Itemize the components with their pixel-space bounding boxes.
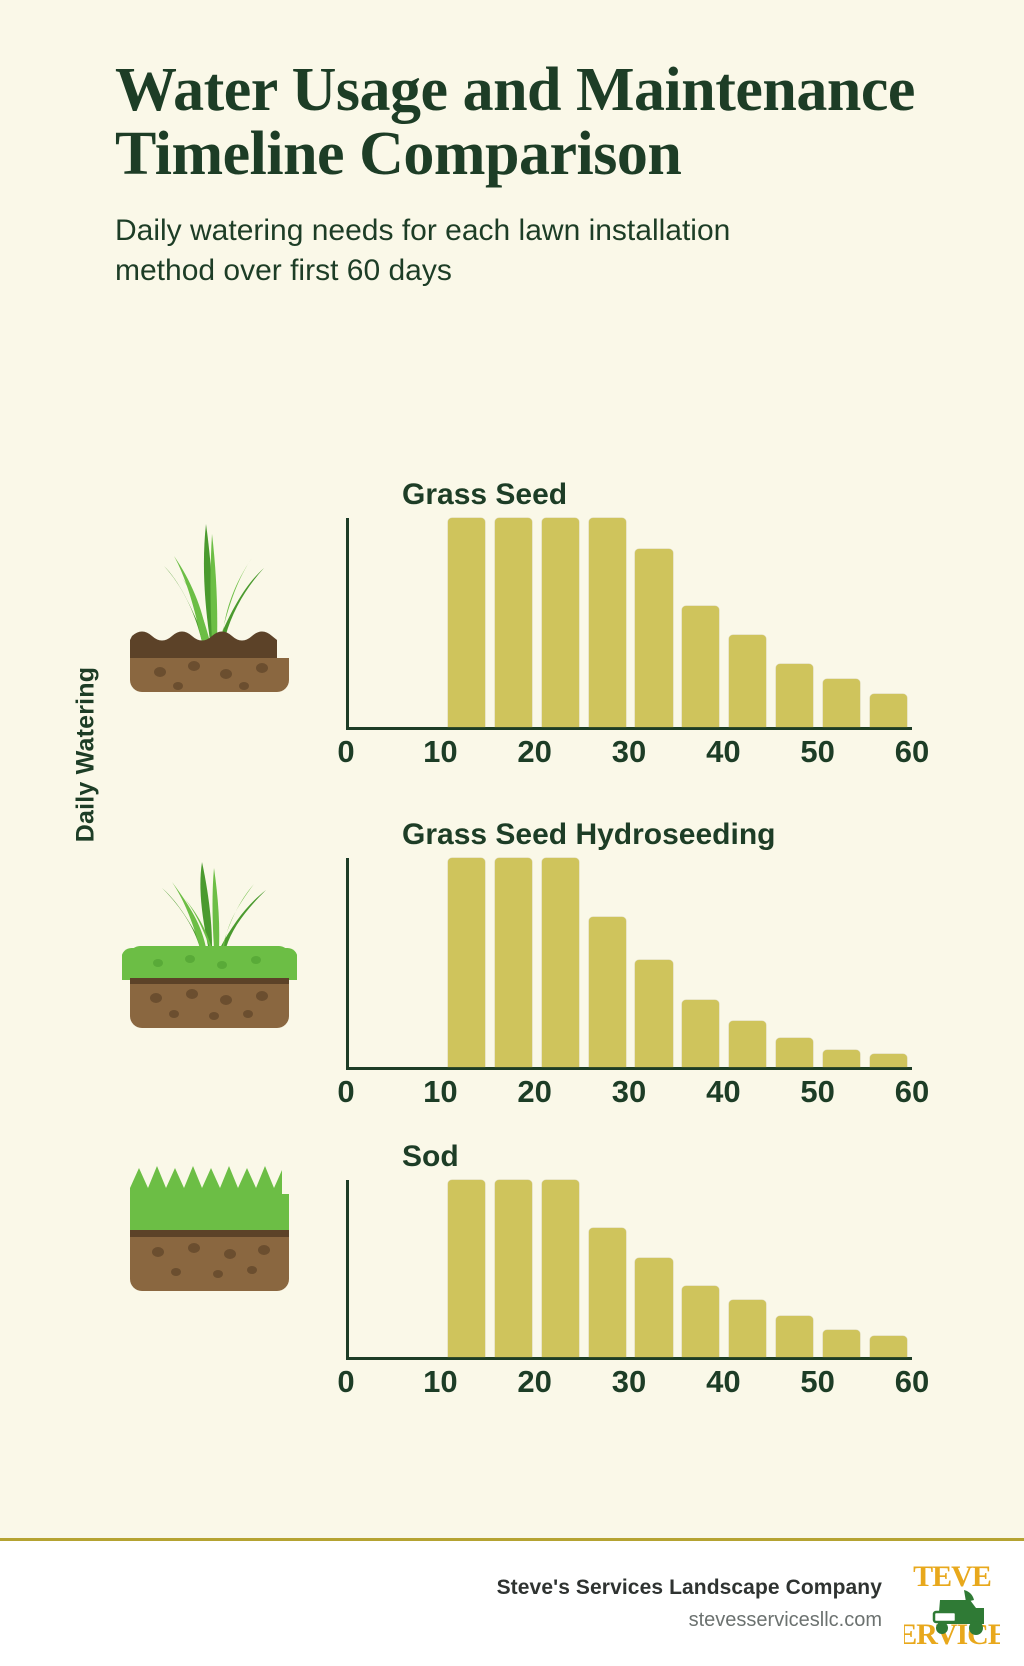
bar[interactable] <box>635 549 672 727</box>
bar-slot <box>490 1180 537 1357</box>
bar[interactable] <box>448 518 485 727</box>
plot-area <box>346 1180 915 1360</box>
page-title: Water Usage and Maintenance Timeline Com… <box>115 58 935 187</box>
x-tick-label: 50 <box>800 734 834 770</box>
bar[interactable] <box>495 518 532 727</box>
bar[interactable] <box>448 1180 485 1357</box>
bar-slot <box>771 1180 818 1357</box>
chart-panel-sod: Sod 0102030405060 <box>0 1130 1024 1430</box>
x-tick-label: 30 <box>612 1074 646 1110</box>
bar[interactable] <box>776 1316 813 1357</box>
bar-slot <box>537 518 584 727</box>
bar[interactable] <box>870 694 907 727</box>
bar[interactable] <box>823 1330 860 1357</box>
x-tick-label: 10 <box>423 734 457 770</box>
bar-slot <box>724 1180 771 1357</box>
bar-slot <box>490 518 537 727</box>
bar[interactable] <box>776 664 813 727</box>
bar[interactable] <box>729 635 766 727</box>
bar-slot <box>537 1180 584 1357</box>
plot-area <box>346 518 915 730</box>
bar[interactable] <box>635 1258 672 1357</box>
bar-chart-grass-seed: Grass Seed 0102030405060 <box>340 478 915 774</box>
footer-website-url[interactable]: stevesservicesllc.com <box>497 1609 882 1632</box>
bar[interactable] <box>589 917 626 1067</box>
bar[interactable] <box>589 1228 626 1357</box>
bar-slot <box>631 518 678 727</box>
bar-slot <box>349 518 396 727</box>
bars-container <box>349 1180 912 1357</box>
page-subtitle: Daily watering needs for each lawn insta… <box>115 211 795 290</box>
bar[interactable] <box>448 858 485 1067</box>
bar-slot <box>724 858 771 1067</box>
bar-slot <box>818 858 865 1067</box>
infographic-poster: Water Usage and Maintenance Timeline Com… <box>0 0 1024 1666</box>
footer-text-block: Steve's Services Landscape Company steve… <box>497 1576 882 1632</box>
bar-slot <box>584 858 631 1067</box>
x-tick-label: 10 <box>423 1364 457 1400</box>
grass-seed-sprouts-illustration <box>122 490 297 695</box>
bar-chart-hydroseeding: Grass Seed Hydroseeding 0102030405060 <box>340 818 915 1114</box>
bar-slot <box>396 858 443 1067</box>
bar[interactable] <box>870 1336 907 1357</box>
x-tick-label: 30 <box>612 734 646 770</box>
bar[interactable] <box>870 1054 907 1067</box>
bar-slot <box>443 1180 490 1357</box>
x-tick-label: 0 <box>337 1364 354 1400</box>
x-tick-label: 40 <box>706 1364 740 1400</box>
bar-slot <box>443 858 490 1067</box>
bar-slot <box>537 858 584 1067</box>
bar-slot <box>584 1180 631 1357</box>
bar[interactable] <box>776 1038 813 1067</box>
bar-slot <box>443 518 490 727</box>
bar-slot <box>818 518 865 727</box>
x-tick-label: 10 <box>423 1074 457 1110</box>
x-axis-ticks: 0102030405060 <box>346 1360 915 1404</box>
footer-company-name: Steve's Services Landscape Company <box>497 1576 882 1600</box>
bar[interactable] <box>823 1050 860 1067</box>
bar-slot <box>631 1180 678 1357</box>
bar-slot <box>724 518 771 727</box>
bar[interactable] <box>635 960 672 1067</box>
bar-slot <box>865 1180 912 1357</box>
header: Water Usage and Maintenance Timeline Com… <box>115 58 935 290</box>
bar[interactable] <box>823 679 860 727</box>
x-axis-ticks: 0102030405060 <box>346 730 915 774</box>
x-tick-label: 60 <box>895 1074 929 1110</box>
x-tick-label: 60 <box>895 734 929 770</box>
steves-services-logo: TEVE ERVICE <box>904 1556 1000 1652</box>
sod-slab-illustration <box>122 1150 297 1310</box>
bar-slot <box>631 858 678 1067</box>
bar-slot <box>818 1180 865 1357</box>
x-tick-label: 20 <box>517 734 551 770</box>
bar[interactable] <box>682 1000 719 1067</box>
footer: Steve's Services Landscape Company steve… <box>0 1541 1024 1666</box>
x-tick-label: 0 <box>337 1074 354 1110</box>
chart-panel-hydroseeding: Grass Seed Hydroseeding 0102030405060 <box>0 800 1024 1120</box>
bar-slot <box>677 1180 724 1357</box>
chart-title: Grass Seed <box>402 478 915 514</box>
x-tick-label: 40 <box>706 1074 740 1110</box>
bar-slot <box>771 518 818 727</box>
bars-container <box>349 518 912 727</box>
bar[interactable] <box>729 1300 766 1357</box>
bar[interactable] <box>589 518 626 727</box>
bar-slot <box>677 858 724 1067</box>
bar-slot <box>771 858 818 1067</box>
bar-slot <box>349 1180 396 1357</box>
bar-slot <box>584 518 631 727</box>
svg-text:TEVE: TEVE <box>913 1560 991 1593</box>
x-tick-label: 50 <box>800 1364 834 1400</box>
bar-slot <box>396 1180 443 1357</box>
bar-slot <box>349 858 396 1067</box>
chart-title: Grass Seed Hydroseeding <box>402 818 915 854</box>
hydroseeding-turf-illustration <box>122 828 297 1033</box>
bar[interactable] <box>729 1021 766 1067</box>
x-tick-label: 50 <box>800 1074 834 1110</box>
bar[interactable] <box>495 1180 532 1357</box>
chart-panel-grass-seed: Grass Seed 0102030405060 <box>0 478 1024 798</box>
bar[interactable] <box>542 518 579 727</box>
x-tick-label: 40 <box>706 734 740 770</box>
bars-container <box>349 858 912 1067</box>
x-tick-label: 20 <box>517 1364 551 1400</box>
bar-chart-sod: Sod 0102030405060 <box>340 1140 915 1404</box>
bar-slot <box>490 858 537 1067</box>
x-tick-label: 0 <box>337 734 354 770</box>
bar-slot <box>396 518 443 727</box>
x-tick-label: 30 <box>612 1364 646 1400</box>
bar-slot <box>865 518 912 727</box>
x-tick-label: 20 <box>517 1074 551 1110</box>
bar-slot <box>677 518 724 727</box>
bar[interactable] <box>682 606 719 727</box>
bar[interactable] <box>682 1286 719 1357</box>
x-tick-label: 60 <box>895 1364 929 1400</box>
plot-area <box>346 858 915 1070</box>
bar-slot <box>865 858 912 1067</box>
bar[interactable] <box>542 858 579 1067</box>
bar[interactable] <box>495 858 532 1067</box>
bar[interactable] <box>542 1180 579 1357</box>
chart-title: Sod <box>402 1140 915 1176</box>
x-axis-ticks: 0102030405060 <box>346 1070 915 1114</box>
